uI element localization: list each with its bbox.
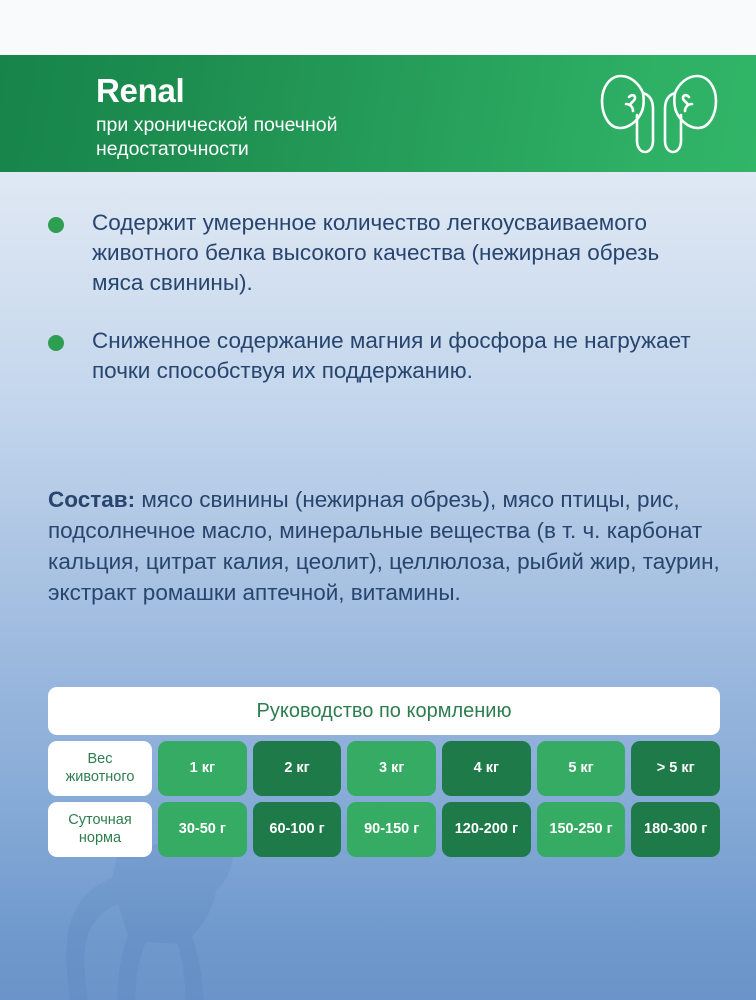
table-cell: 180-300 г <box>631 802 720 857</box>
page-subtitle: при хронической почечной недостаточности <box>96 114 337 161</box>
feeding-guide: Руководство по кормлению Вес животного 1… <box>48 687 720 857</box>
table-cell: 30-50 г <box>158 802 247 857</box>
table-row: Вес животного 1 кг 2 кг 3 кг 4 кг 5 кг >… <box>48 741 720 796</box>
table-row: Суточная норма 30-50 г 60-100 г 90-150 г… <box>48 802 720 857</box>
table-cell: 2 кг <box>253 741 342 796</box>
top-white-strip <box>0 0 756 55</box>
page-title: Renal <box>96 73 337 109</box>
composition-paragraph: Состав: мясо свинины (нежирная обрезь), … <box>48 484 720 608</box>
feeding-guide-title: Руководство по кормлению <box>48 687 720 735</box>
product-header-band: Renal при хронической почечной недостато… <box>0 55 756 172</box>
bullet-dot-icon <box>48 335 64 351</box>
table-cell: 120-200 г <box>442 802 531 857</box>
content-background: Содержит умеренное количество легкоусваи… <box>0 172 756 1000</box>
table-cell: 3 кг <box>347 741 436 796</box>
header-text-group: Renal при хронической почечной недостато… <box>96 73 337 161</box>
composition-label: Состав: <box>48 487 135 512</box>
promo-page: Содержит умеренное количество легкоусваи… <box>0 0 756 1000</box>
kidneys-icon <box>598 71 720 157</box>
composition-text: мясо свинины (нежирная обрезь), мясо пти… <box>48 487 720 605</box>
bullet-text: Содержит умеренное количество легкоусваи… <box>92 208 712 298</box>
list-item: Содержит умеренное количество легкоусваи… <box>48 208 724 298</box>
table-cell: 60-100 г <box>253 802 342 857</box>
table-cell: 5 кг <box>537 741 626 796</box>
table-cell: 4 кг <box>442 741 531 796</box>
row-header-weight: Вес животного <box>48 741 152 796</box>
table-cell: 150-250 г <box>537 802 626 857</box>
table-cell: 1 кг <box>158 741 247 796</box>
benefits-list: Содержит умеренное количество легкоусваи… <box>0 172 756 414</box>
list-item: Сниженное содержание магния и фосфора не… <box>48 326 724 386</box>
bullet-dot-icon <box>48 217 64 233</box>
table-cell: 90-150 г <box>347 802 436 857</box>
bullet-text: Сниженное содержание магния и фосфора не… <box>92 326 712 386</box>
table-cell: > 5 кг <box>631 741 720 796</box>
row-header-daily-norm: Суточная норма <box>48 802 152 857</box>
